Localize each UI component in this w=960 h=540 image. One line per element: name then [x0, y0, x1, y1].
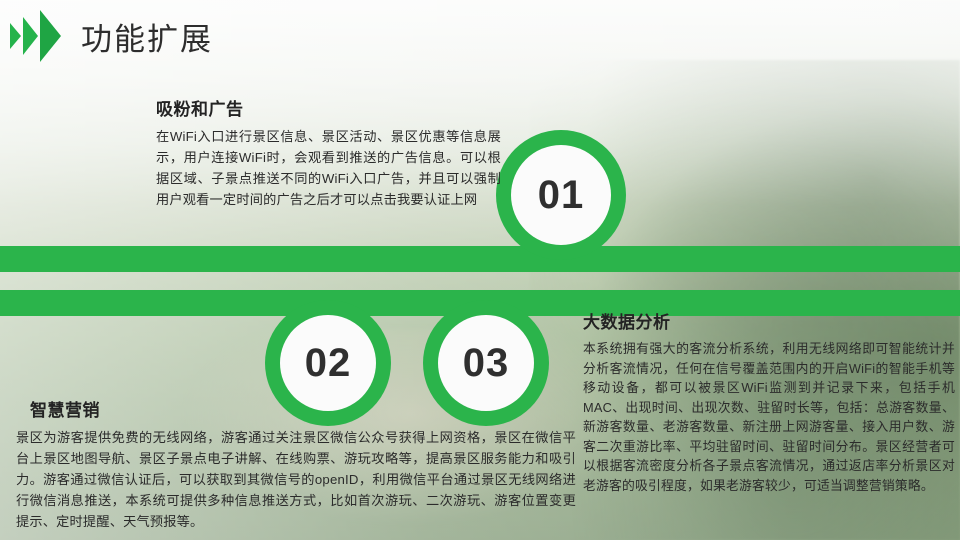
circle-number-03: 03	[463, 341, 510, 386]
circle-number-01: 01	[538, 173, 585, 218]
section-smart-marketing: 智慧营销 景区为游客提供免费的无线网络，游客通过关注景区微信公众号获得上网资格，…	[16, 396, 576, 532]
section-body-fans-and-ads: 在WiFi入口进行景区信息、景区活动、景区优惠等信息展示，用户连接WiFi时，会…	[156, 126, 501, 210]
slide-header: 功能扩展	[0, 10, 213, 62]
green-band-upper	[0, 246, 960, 272]
circle-inner-01: 01	[511, 145, 611, 245]
section-body-smart-marketing: 景区为游客提供免费的无线网络，游客通过关注景区微信公众号获得上网资格，景区在微信…	[16, 427, 576, 532]
section-fans-and-ads: 吸粉和广告 在WiFi入口进行景区信息、景区活动、景区优惠等信息展示，用户连接W…	[156, 95, 501, 210]
section-body-big-data-analysis: 本系统拥有强大的客流分析系统，利用无线网络即可智能统计并分析客流情况，任何在信号…	[583, 339, 955, 495]
section-big-data-analysis: 大数据分析 本系统拥有强大的客流分析系统，利用无线网络即可智能统计并分析客流情况…	[583, 308, 955, 495]
section-heading-big-data-analysis: 大数据分析	[583, 308, 955, 333]
section-heading-smart-marketing: 智慧营销	[30, 396, 576, 421]
chevron-small-icon	[10, 23, 21, 49]
circle-number-02: 02	[305, 341, 352, 386]
circle-badge-01[interactable]: 01	[496, 130, 626, 260]
section-heading-fans-and-ads: 吸粉和广告	[156, 95, 501, 120]
chevron-medium-icon	[23, 17, 38, 55]
double-chevron-right-icon	[10, 14, 63, 58]
page-title: 功能扩展	[81, 14, 213, 59]
chevron-large-icon	[40, 10, 61, 62]
